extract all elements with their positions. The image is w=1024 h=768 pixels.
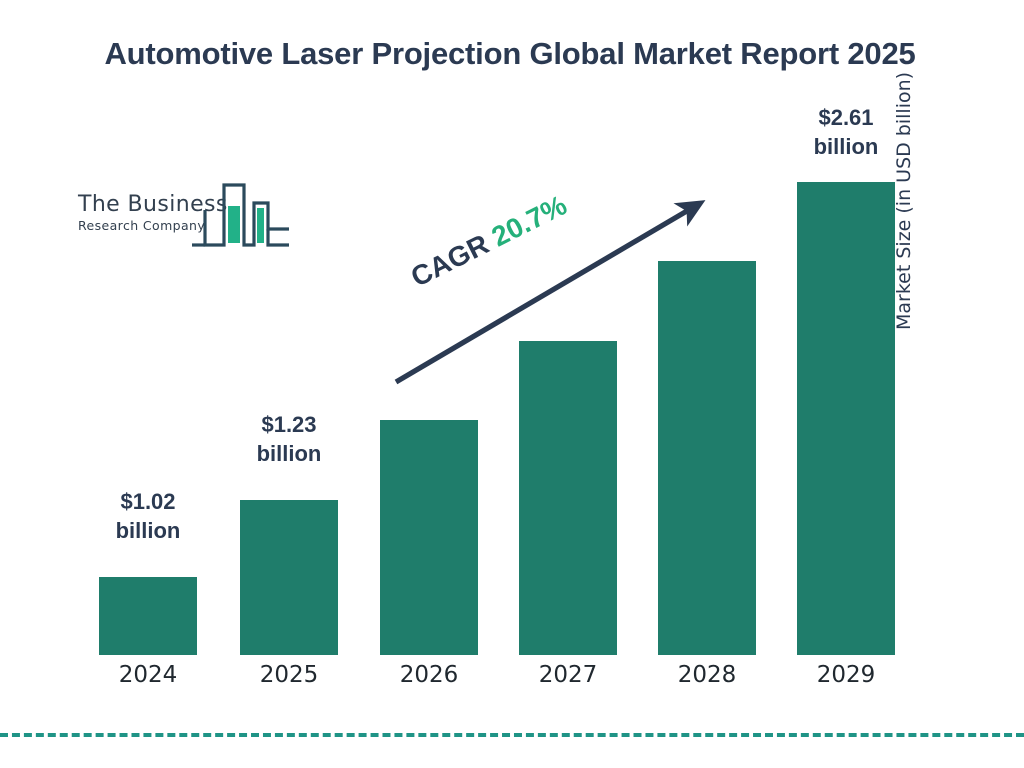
x-axis-label-2029: 2029 <box>797 662 895 688</box>
bar-value-2024: $1.02 billion <box>79 487 217 545</box>
bar-2026 <box>380 420 478 655</box>
bottom-divider <box>0 733 1024 737</box>
bar-value-2025: $1.23 billion <box>220 410 358 468</box>
company-logo: The Business Research Company <box>78 188 290 250</box>
bar-2028 <box>658 261 756 655</box>
x-axis-label-2026: 2026 <box>380 662 478 688</box>
x-axis-label-2027: 2027 <box>519 662 617 688</box>
cagr-annotation: CAGR 20.7% <box>406 189 572 293</box>
bar-2027 <box>519 341 617 655</box>
bar-value-amount: $1.02 <box>79 487 217 516</box>
x-axis-label-2025: 2025 <box>240 662 338 688</box>
cagr-word: CAGR <box>406 228 494 293</box>
y-axis-title: Market Size (in USD billion) <box>893 0 915 330</box>
bar-value-unit: billion <box>220 439 358 468</box>
bar-2024 <box>99 577 197 655</box>
x-axis-label-2024: 2024 <box>99 662 197 688</box>
bar-2029 <box>797 182 895 655</box>
bar-value-unit: billion <box>79 516 217 545</box>
cagr-value: 20.7% <box>487 189 572 252</box>
bar-2025 <box>240 500 338 655</box>
bar-value-amount: $1.23 <box>220 410 358 439</box>
page-title: Automotive Laser Projection Global Marke… <box>90 33 930 75</box>
chart-canvas: Automotive Laser Projection Global Marke… <box>0 0 1024 768</box>
x-axis-label-2028: 2028 <box>658 662 756 688</box>
bar-chart-logo-mark <box>192 182 292 257</box>
